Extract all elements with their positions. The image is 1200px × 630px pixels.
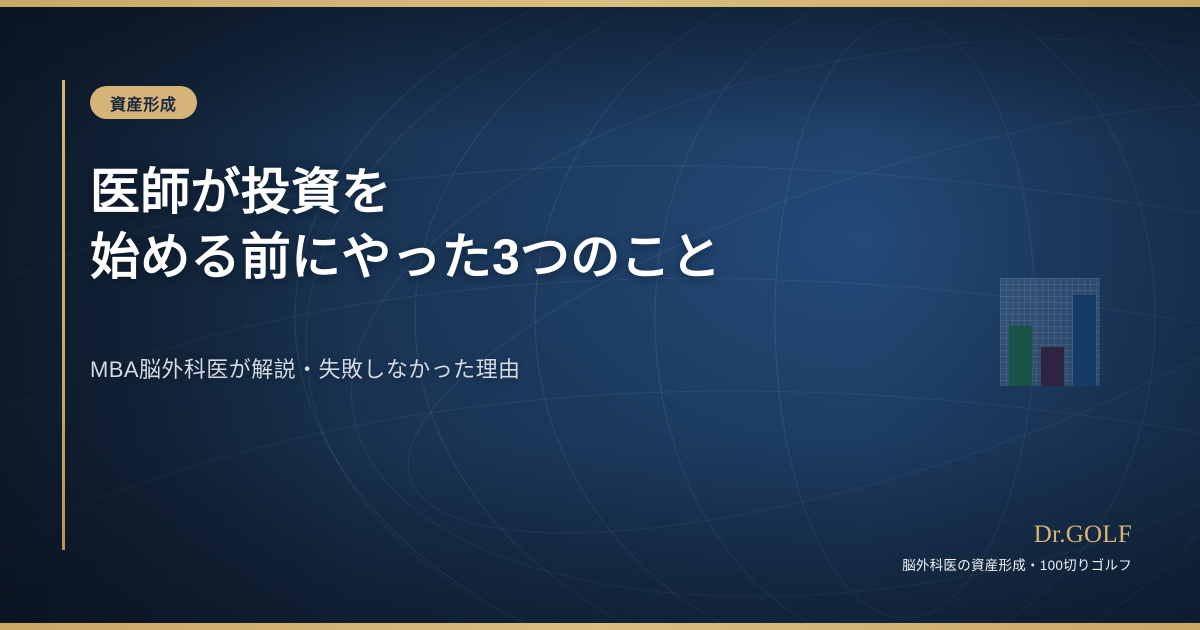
bottom-gold-bar — [0, 623, 1200, 630]
og-card: 資産形成 医師が投資を 始める前にやった3つのこと MBA脳外科医が解説・失敗し… — [0, 0, 1200, 630]
brand-tagline: 脳外科医の資産形成・100切りゴルフ — [902, 554, 1132, 574]
category-badge-label: 資産形成 — [110, 91, 177, 115]
page-title-line-2: 始める前にやった3つのこと — [90, 225, 920, 290]
brand-name: Dr.GOLF — [902, 521, 1132, 549]
page-title: 医師が投資を 始める前にやった3つのこと — [90, 160, 920, 290]
brand-block: Dr.GOLF 脳外科医の資産形成・100切りゴルフ — [902, 521, 1132, 575]
category-badge: 資産形成 — [90, 86, 197, 119]
chart-bar-1 — [1009, 326, 1032, 386]
page-title-line-1: 医師が投資を — [90, 160, 920, 225]
chart-bar-2 — [1041, 347, 1064, 386]
bar-chart-decoration — [1000, 278, 1100, 386]
page-subtitle: MBA脳外科医が解説・失敗しなかった理由 — [90, 352, 520, 384]
chart-bar-3 — [1073, 295, 1096, 386]
left-accent-rule — [62, 80, 65, 550]
top-gold-bar — [0, 0, 1200, 7]
